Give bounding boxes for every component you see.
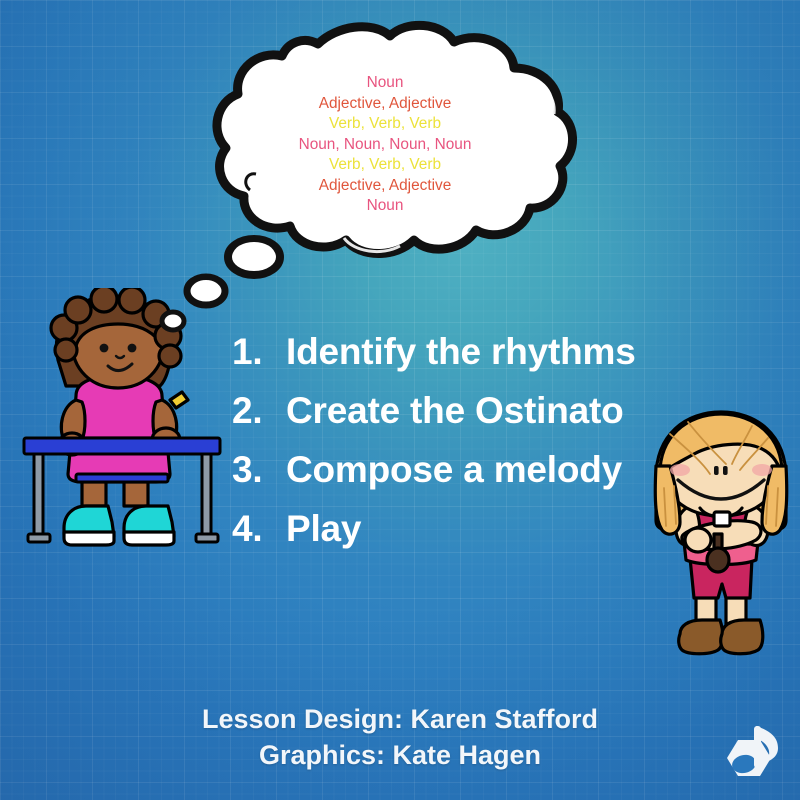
poem-line: Verb, Verb, Verb: [329, 155, 441, 175]
step-label: Identify the rhythms: [286, 331, 636, 373]
poem-line: Noun: [367, 73, 404, 93]
credit-lesson-design: Lesson Design: Karen Stafford: [0, 702, 800, 738]
music-note-hexagon-icon[interactable]: [716, 718, 788, 790]
poem-line: Noun, Noun, Noun, Noun: [299, 135, 472, 155]
step-number: 2.: [232, 390, 286, 432]
step-number: 4.: [232, 508, 286, 550]
step-label: Play: [286, 508, 361, 550]
list-item: 3. Compose a melody: [232, 449, 702, 491]
poem-line: Adjective, Adjective: [319, 176, 452, 196]
step-number: 3.: [232, 449, 286, 491]
poem-line: Adjective, Adjective: [319, 94, 452, 114]
step-number: 1.: [232, 331, 286, 373]
slide-canvas: NounAdjective, AdjectiveVerb, Verb, Verb…: [0, 0, 800, 800]
poem-line: Verb, Verb, Verb: [329, 114, 441, 134]
list-item: 1. Identify the rhythms: [232, 331, 702, 373]
list-item: 2. Create the Ostinato: [232, 390, 702, 432]
lesson-steps-list: 1. Identify the rhythms 2. Create the Os…: [232, 331, 702, 567]
step-label: Create the Ostinato: [286, 390, 624, 432]
credits-block: Lesson Design: Karen Stafford Graphics: …: [0, 702, 800, 774]
thought-trail-bubbles: [150, 225, 310, 345]
credit-graphics: Graphics: Kate Hagen: [0, 738, 800, 774]
list-item: 4. Play: [232, 508, 702, 550]
poem-line: Noun: [367, 196, 404, 216]
step-label: Compose a melody: [286, 449, 622, 491]
